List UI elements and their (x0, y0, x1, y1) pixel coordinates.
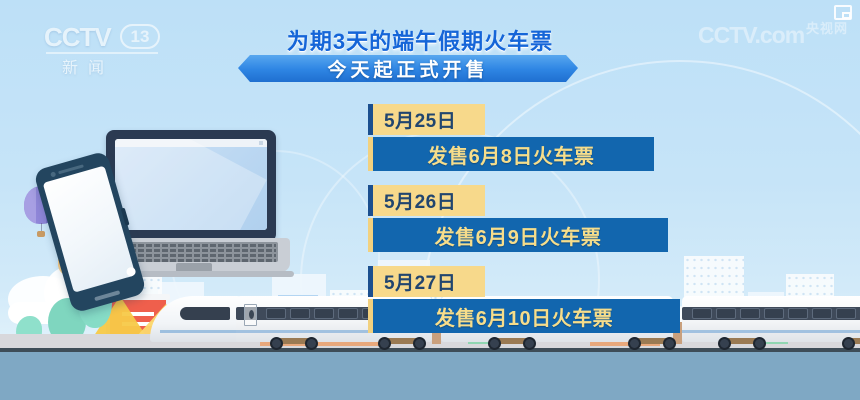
page-title: 为期3天的端午假期火车票 (250, 24, 590, 56)
picture-in-picture-icon[interactable] (834, 5, 852, 20)
train-car (682, 296, 860, 342)
ticket-detail-bar: 发售6月9日火车票 (368, 218, 668, 252)
ticket-detail-text: 发售6月8日火车票 (428, 140, 595, 169)
watermark-site-cn: 央视网 (806, 18, 848, 37)
subtitle-banner: 今天起正式开售 (238, 55, 578, 82)
train-bogie (716, 336, 768, 350)
ground-band (0, 352, 860, 400)
subtitle-text: 今天起正式开售 (327, 55, 488, 82)
ticket-schedule-list: 5月25日 发售6月8日火车票 5月26日 发售6月9日火车票 5月27日 (368, 104, 688, 347)
accent-bar (368, 266, 373, 297)
sale-date-text: 5月27日 (384, 268, 456, 295)
laptop-screen (115, 139, 267, 230)
accent-bar (368, 137, 373, 171)
sale-date-bar: 5月27日 (368, 266, 485, 297)
channel-logo: CCTV 13 新闻 (44, 22, 162, 76)
list-item: 5月25日 发售6月8日火车票 (368, 104, 688, 171)
sale-date-text: 5月26日 (384, 187, 456, 214)
sale-date-text: 5月25日 (384, 106, 456, 133)
site-watermark: CCTV.com 央视网 (698, 16, 848, 50)
laptop-lid (106, 130, 276, 242)
ticket-detail-bar: 发售6月10日火车票 (368, 299, 680, 333)
list-item: 5月27日 发售6月10日火车票 (368, 266, 688, 333)
ticket-detail-text: 发售6月9日火车票 (435, 221, 602, 250)
channel-number: 13 (120, 24, 160, 49)
accent-bar (368, 185, 373, 216)
channel-name: 新闻 (62, 54, 114, 78)
list-item: 5月26日 发售6月9日火车票 (368, 185, 688, 252)
accent-bar (368, 299, 373, 333)
ticket-detail-text: 发售6月10日火车票 (435, 302, 613, 331)
ticket-detail-bar: 发售6月8日火车票 (368, 137, 654, 171)
train-nose (150, 296, 242, 342)
broadcast-frame: 为期3天的端午假期火车票 今天起正式开售 5月25日 发售6月8日火车票 5月2… (0, 0, 860, 400)
sale-date-bar: 5月26日 (368, 185, 485, 216)
accent-bar (368, 104, 373, 135)
accent-bar (368, 218, 373, 252)
train-door (244, 304, 257, 326)
sale-date-bar: 5月25日 (368, 104, 485, 135)
train-bogie (268, 336, 320, 350)
watermark-site: CCTV.com (698, 22, 804, 49)
train-bogie (840, 336, 860, 350)
channel-logo-text: CCTV (44, 22, 111, 53)
